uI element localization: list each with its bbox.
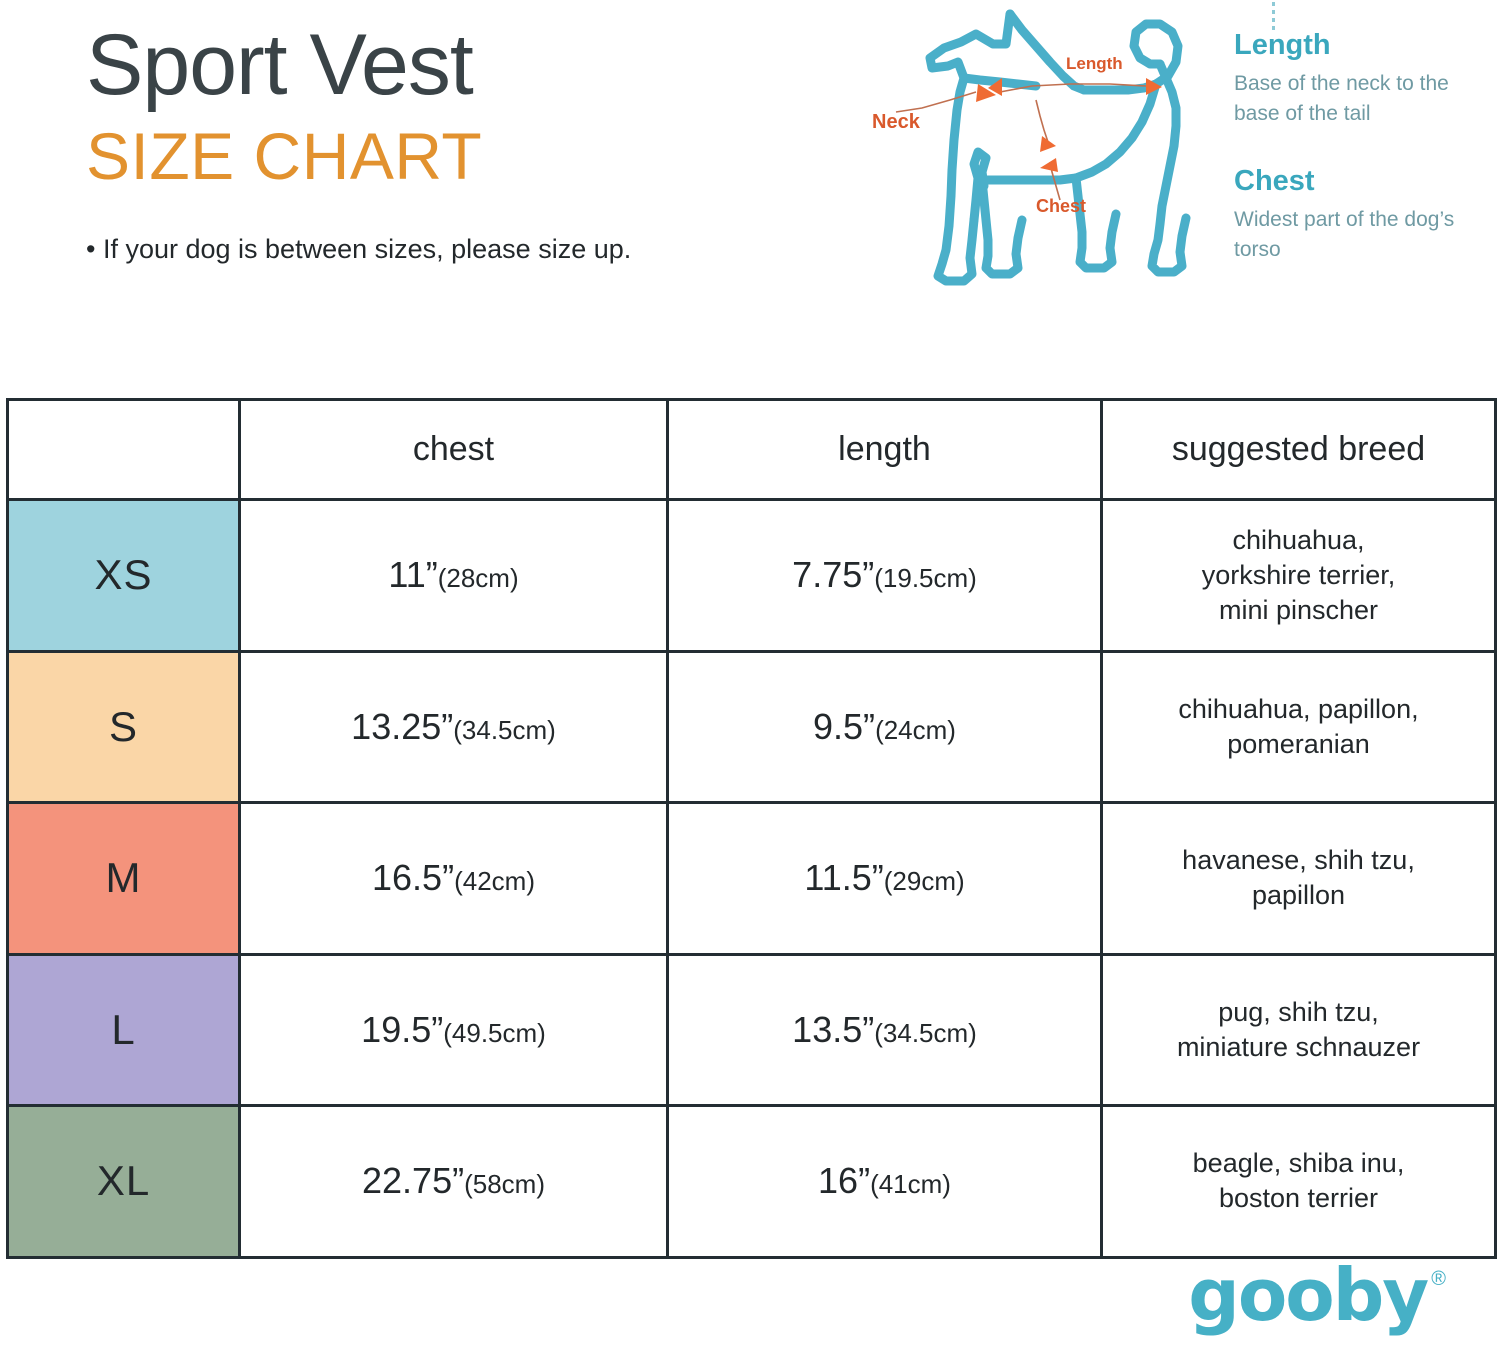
table-row: XL22.75”(58cm)16”(41cm)beagle, shiba inu… <box>8 1106 1496 1258</box>
chest-lower-arrowhead <box>1040 158 1058 172</box>
header-suggested-breed: suggested breed <box>1102 400 1496 500</box>
chest-value-cm: (49.5cm) <box>443 1018 546 1048</box>
legend-chest-description: Widest part of the dog’s torso <box>1234 205 1484 265</box>
table-header-row: chest length suggested breed <box>8 400 1496 500</box>
table-row: M16.5”(42cm)11.5”(29cm)havanese, shih tz… <box>8 803 1496 955</box>
chest-value: 16.5”(42cm) <box>240 803 668 955</box>
length-value-cm: (41cm) <box>870 1169 951 1199</box>
legend-length-title: Length <box>1234 28 1484 63</box>
table-row: S13.25”(34.5cm)9.5”(24cm)chihuahua, papi… <box>8 651 1496 803</box>
header-section: Sport Vest SIZE CHART • If your dog is b… <box>0 0 1500 398</box>
chest-value-cm: (58cm) <box>464 1169 545 1199</box>
length-value-inches: 11.5” <box>804 857 883 898</box>
suggested-breed-value: beagle, shiba inu,boston terrier <box>1102 1106 1496 1258</box>
breed-line: boston terrier <box>1103 1181 1494 1216</box>
brand-logo-wordmark: gooby <box>1188 1262 1427 1328</box>
size-label-xs: XS <box>8 500 240 652</box>
suggested-breed-value: havanese, shih tzu,papillon <box>1102 803 1496 955</box>
legend-item-chest: Chest Widest part of the dog’s torso <box>1234 164 1484 264</box>
chest-value: 11”(28cm) <box>240 500 668 652</box>
length-value-inches: 13.5” <box>792 1009 874 1050</box>
breed-line: havanese, shih tzu, <box>1103 843 1494 878</box>
chest-value-inches: 22.75” <box>362 1160 464 1201</box>
chest-value: 13.25”(34.5cm) <box>240 651 668 803</box>
breed-line: chihuahua, papillon, <box>1103 692 1494 727</box>
diagram-label-length: Length <box>1066 54 1123 74</box>
length-value-cm: (24cm) <box>875 715 956 745</box>
length-value-inches: 7.75” <box>792 554 874 595</box>
breed-line: yorkshire terrier, <box>1103 558 1494 593</box>
length-value: 9.5”(24cm) <box>668 651 1102 803</box>
size-label-xl: XL <box>8 1106 240 1258</box>
length-value-cm: (29cm) <box>884 866 965 896</box>
length-value-inches: 16” <box>818 1160 870 1201</box>
length-value-cm: (19.5cm) <box>874 563 977 593</box>
header-chest: chest <box>240 400 668 500</box>
chest-value-cm: (28cm) <box>438 563 519 593</box>
length-value-inches: 9.5” <box>813 706 875 747</box>
header-size <box>8 400 240 500</box>
chest-value-cm: (42cm) <box>454 866 535 896</box>
length-value: 11.5”(29cm) <box>668 803 1102 955</box>
chest-value: 22.75”(58cm) <box>240 1106 668 1258</box>
chest-value-inches: 16.5” <box>372 857 454 898</box>
chest-value-inches: 19.5” <box>361 1009 443 1050</box>
page-title: Sport Vest <box>86 22 846 108</box>
diagram-label-chest: Chest <box>1036 196 1086 217</box>
size-label-m: M <box>8 803 240 955</box>
measurement-legend: Length Base of the neck to the base of t… <box>1234 28 1484 301</box>
chest-value: 19.5”(49.5cm) <box>240 954 668 1106</box>
chest-value-cm: (34.5cm) <box>453 715 556 745</box>
diagram-label-neck: Neck <box>872 111 920 134</box>
breed-line: papillon <box>1103 878 1494 913</box>
suggested-breed-value: chihuahua, papillon,pomeranian <box>1102 651 1496 803</box>
brand-logo: gooby ® <box>1188 1262 1446 1336</box>
size-chart-table: chest length suggested breed XS11”(28cm)… <box>6 398 1497 1259</box>
table-row: L19.5”(49.5cm)13.5”(34.5cm)pug, shih tzu… <box>8 954 1496 1106</box>
breed-line: mini pinscher <box>1103 593 1494 628</box>
length-value-cm: (34.5cm) <box>874 1018 977 1048</box>
dog-measurement-diagram: Neck Length Chest <box>860 0 1240 310</box>
chest-value-inches: 11” <box>388 554 437 595</box>
breed-line: chihuahua, <box>1103 523 1494 558</box>
dog-outline-icon <box>930 14 1186 281</box>
size-label-s: S <box>8 651 240 803</box>
breed-line: pomeranian <box>1103 727 1494 762</box>
length-value: 16”(41cm) <box>668 1106 1102 1258</box>
chest-value-inches: 13.25” <box>351 706 453 747</box>
header-length: length <box>668 400 1102 500</box>
legend-length-description: Base of the neck to the base of the tail <box>1234 69 1484 129</box>
title-block: Sport Vest SIZE CHART • If your dog is b… <box>86 22 846 265</box>
table-row: XS11”(28cm)7.75”(19.5cm)chihuahua,yorksh… <box>8 500 1496 652</box>
legend-item-length: Length Base of the neck to the base of t… <box>1234 28 1484 128</box>
breed-line: pug, shih tzu, <box>1103 995 1494 1030</box>
length-value: 13.5”(34.5cm) <box>668 954 1102 1106</box>
size-label-l: L <box>8 954 240 1106</box>
chest-upper-arrowhead <box>1040 136 1056 152</box>
legend-chest-title: Chest <box>1234 164 1484 199</box>
sizing-note: • If your dog is between sizes, please s… <box>86 194 846 265</box>
breed-line: beagle, shiba inu, <box>1103 1146 1494 1181</box>
page-subtitle: SIZE CHART <box>86 108 846 194</box>
breed-line: miniature schnauzer <box>1103 1030 1494 1065</box>
length-value: 7.75”(19.5cm) <box>668 500 1102 652</box>
registered-trademark-icon: ® <box>1427 1262 1446 1291</box>
suggested-breed-value: pug, shih tzu,miniature schnauzer <box>1102 954 1496 1106</box>
suggested-breed-value: chihuahua,yorkshire terrier,mini pinsche… <box>1102 500 1496 652</box>
